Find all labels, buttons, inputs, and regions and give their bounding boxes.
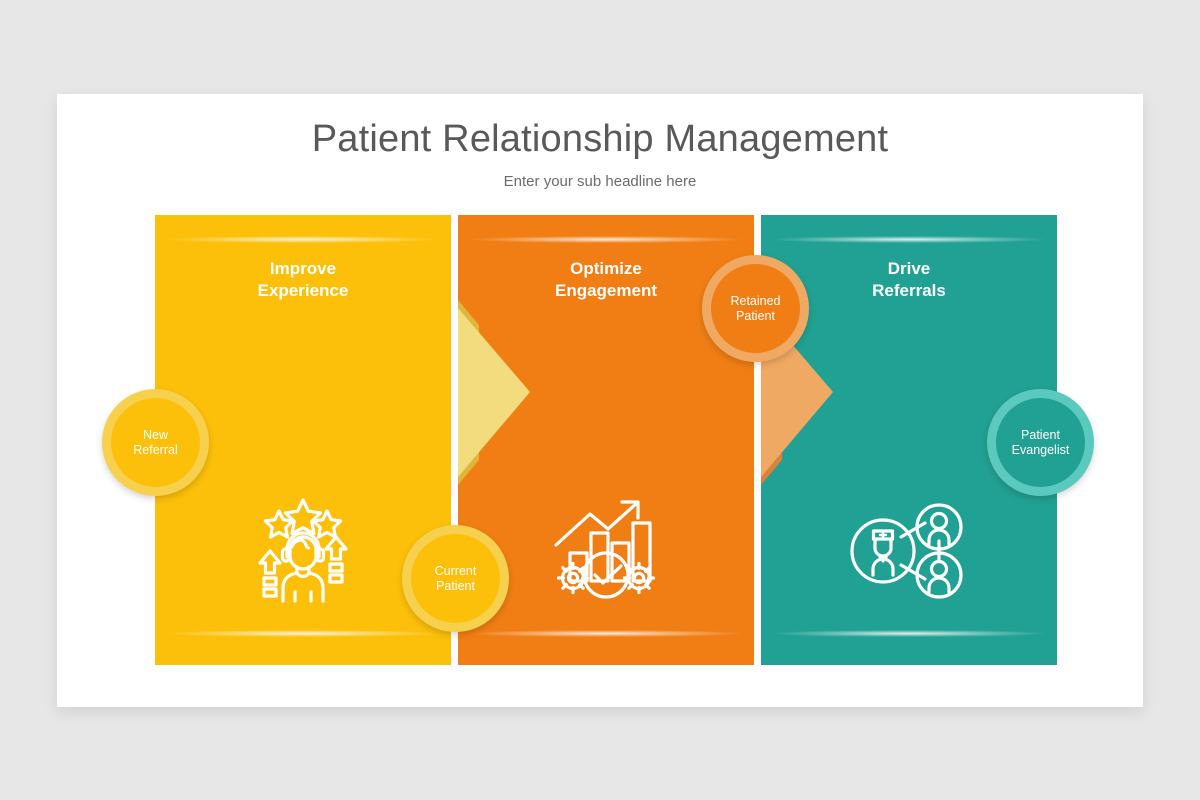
panel-sheen-bottom: [773, 630, 1045, 637]
growth-analytics-icon: [542, 489, 670, 611]
badge-retained-patient[interactable]: Retained Patient: [702, 255, 809, 362]
slide-card: Patient Relationship Management Enter yo…: [57, 94, 1143, 707]
panel-sheen-top: [773, 236, 1045, 243]
page-subtitle: Enter your sub headline here: [57, 173, 1143, 190]
page-title: Patient Relationship Management: [57, 118, 1143, 161]
panel-heading: Improve Experience: [155, 258, 451, 302]
panel-sheen-top: [470, 236, 742, 243]
customer-experience-icon: [239, 489, 367, 611]
panel-sheen-bottom: [470, 630, 742, 637]
panel-sheen-top: [167, 236, 439, 243]
badge-patient-evangelist[interactable]: Patient Evangelist: [987, 389, 1094, 496]
badge-current-patient[interactable]: Current Patient: [402, 525, 509, 632]
panel-sheen-bottom: [167, 630, 439, 637]
patient-network-icon: [845, 489, 973, 611]
badge-new-referral[interactable]: New Referral: [102, 389, 209, 496]
